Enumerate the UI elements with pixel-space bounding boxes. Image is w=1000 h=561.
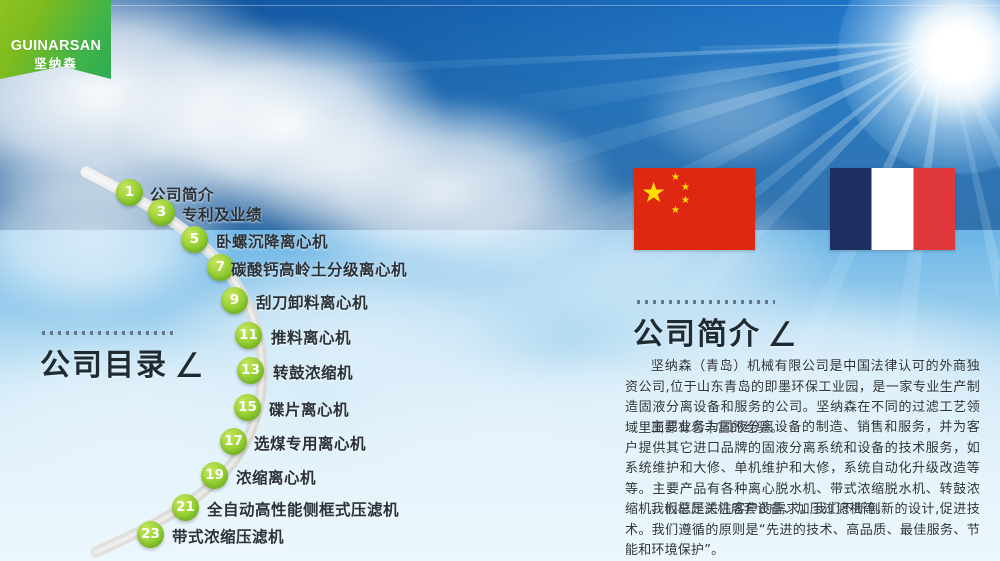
toc-number-badge[interactable]: 9 [221, 287, 248, 314]
toc-item-label[interactable]: 刮刀卸料离心机 [256, 291, 368, 313]
toc-item-label[interactable]: 专利及业绩 [182, 203, 262, 225]
china-flag: ★ ★ ★ ★ ★ [634, 168, 755, 250]
heading-angle-mark: ∠ [174, 346, 206, 386]
flag-star-small: ★ [671, 206, 680, 216]
top-divider-line [0, 5, 1000, 6]
toc-item-label[interactable]: 碳酸钙高岭土分级离心机 [231, 258, 407, 280]
intro-heading: 公司简介∠ [633, 309, 799, 353]
france-flag [830, 168, 955, 250]
flag-star-large: ★ [641, 179, 666, 207]
toc-number-badge[interactable]: 13 [237, 357, 264, 384]
toc-item-label[interactable]: 碟片离心机 [269, 398, 349, 420]
toc-item-label[interactable]: 带式浓缩压滤机 [172, 525, 284, 547]
toc-item-label[interactable]: 全自动高性能侧框式压滤机 [207, 498, 399, 520]
toc-heading-dotted-rule [42, 331, 176, 335]
toc-number-badge[interactable]: 11 [235, 322, 262, 349]
toc-number-badge[interactable]: 3 [148, 199, 175, 226]
toc-heading: 公司目录∠ [40, 340, 206, 384]
toc-number-badge[interactable]: 23 [137, 521, 164, 548]
intro-heading-text: 公司简介 [633, 317, 761, 352]
toc-item-label[interactable]: 转鼓浓缩机 [273, 361, 353, 383]
toc-item-label[interactable]: 选煤专用离心机 [254, 432, 366, 454]
toc-number-badge[interactable]: 21 [172, 494, 199, 521]
intro-heading-dotted-rule [637, 300, 775, 304]
cloud [640, 60, 820, 170]
flag-star-small: ★ [681, 183, 690, 193]
heading-angle-mark: ∠ [767, 315, 799, 355]
slide-canvas: GUINARSAN 坚纳森 ★ ★ ★ ★ ★ 公司目录∠ 1 公司简介 [0, 0, 1000, 561]
toc-heading-text: 公司目录 [40, 348, 168, 383]
toc-item-label[interactable]: 浓缩离心机 [236, 466, 316, 488]
toc-number-badge[interactable]: 19 [201, 462, 228, 489]
intro-paragraph: 我们总是关注客户的需求。我们不断创新的设计,促进技术。我们遵循的原则是“先进的技… [625, 500, 980, 561]
toc-number-badge[interactable]: 7 [207, 254, 234, 281]
flag-star-small: ★ [671, 173, 680, 183]
toc-number-badge[interactable]: 5 [181, 226, 208, 253]
flag-star-small: ★ [681, 196, 690, 206]
toc-number-badge[interactable]: 15 [234, 394, 261, 421]
toc-item-label[interactable]: 卧螺沉降离心机 [216, 230, 328, 252]
logo-wordmark: GUINARSAN [8, 38, 104, 54]
toc-item-label[interactable]: 推料离心机 [271, 326, 351, 348]
toc-number-badge[interactable]: 1 [116, 179, 143, 206]
toc-number-badge[interactable]: 17 [220, 428, 247, 455]
company-logo[interactable]: GUINARSAN 坚纳森 [0, 0, 111, 79]
